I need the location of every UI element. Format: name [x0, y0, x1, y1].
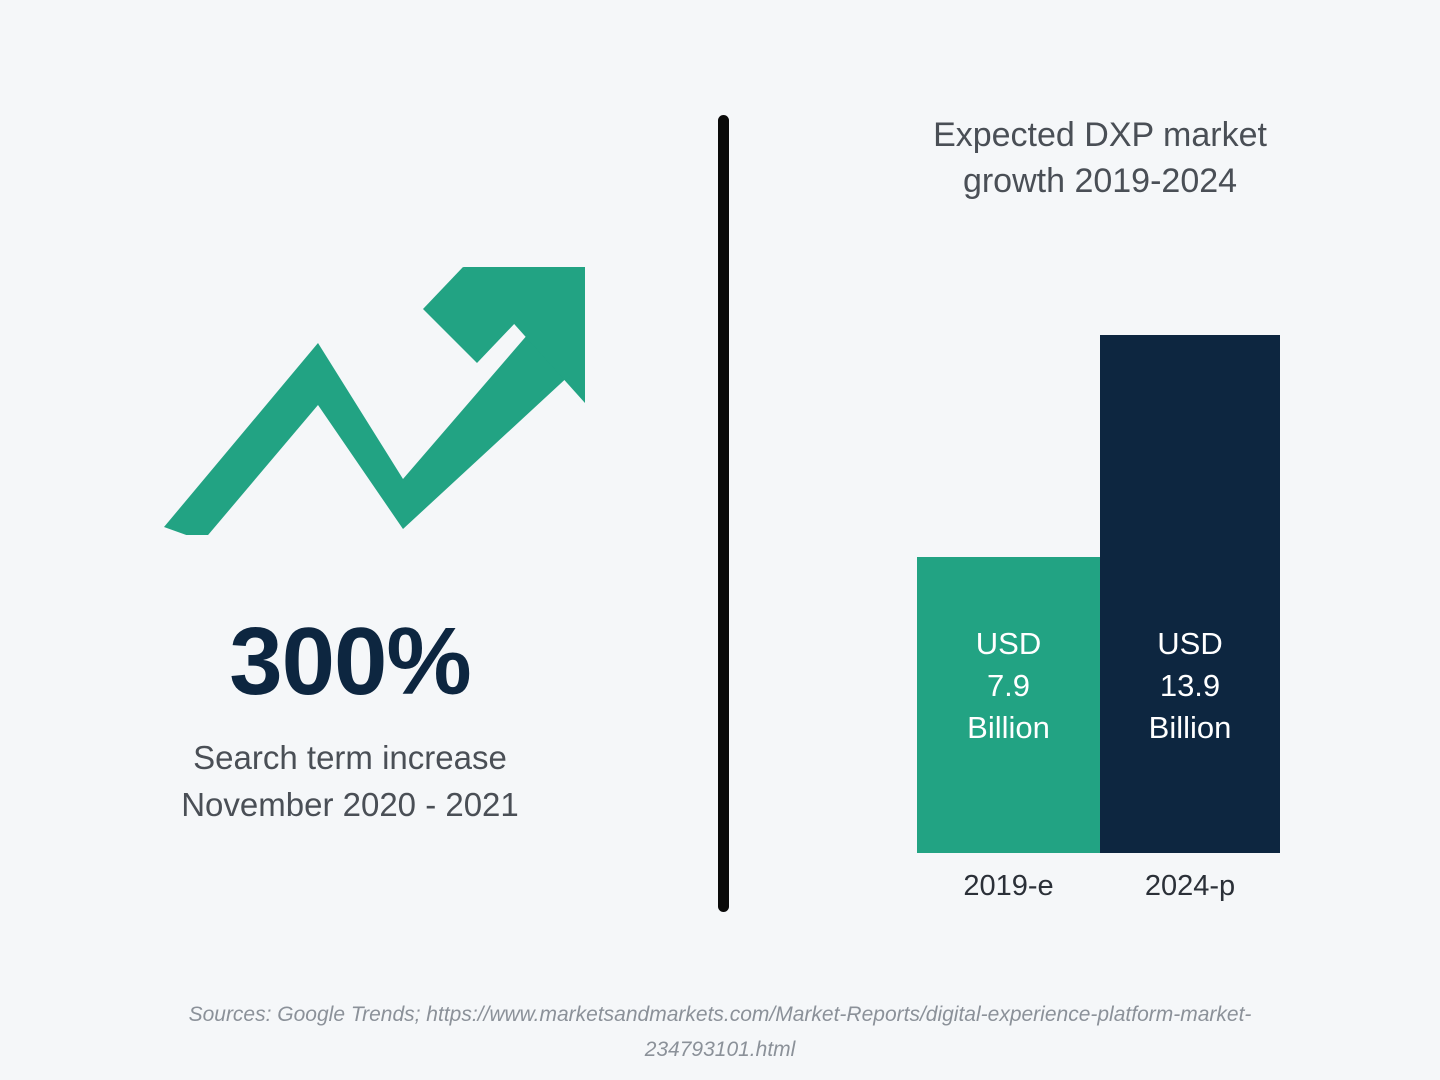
chart-title-line-2: growth 2019-2024: [760, 159, 1440, 205]
bar-chart: USD 7.9 Billion USD 13.9 Billion 2019-e …: [760, 320, 1440, 930]
dxp-market-chart-panel: Expected DXP market growth 2019-2024 USD…: [760, 0, 1440, 960]
stat-value: 300%: [0, 612, 700, 713]
bar-value-amount-2019: 7.9: [967, 665, 1050, 707]
bar-value-currency-2019: USD: [967, 623, 1050, 665]
bar-value-currency-2024: USD: [1149, 623, 1232, 665]
bar-value-label-2019: USD 7.9 Billion: [967, 623, 1050, 749]
search-trend-panel: 300% Search term increase November 2020 …: [0, 0, 700, 960]
x-axis-label-2024: 2024-p: [1100, 870, 1280, 903]
stat-caption-line-2: November 2020 - 2021: [0, 782, 700, 829]
bar-value-amount-2024: 13.9: [1149, 665, 1232, 707]
infographic-canvas: 300% Search term increase November 2020 …: [0, 0, 1440, 1080]
bar-2019-e: USD 7.9 Billion: [917, 557, 1100, 853]
bar-value-label-2024: USD 13.9 Billion: [1149, 623, 1232, 749]
stat-block: 300% Search term increase November 2020 …: [0, 612, 700, 829]
x-axis-labels: 2019-e 2024-p: [917, 870, 1280, 920]
stat-caption-line-1: Search term increase: [0, 735, 700, 782]
stat-caption: Search term increase November 2020 - 202…: [0, 735, 700, 829]
x-axis-label-2019: 2019-e: [917, 870, 1100, 903]
chart-title: Expected DXP market growth 2019-2024: [760, 113, 1440, 205]
vertical-divider: [718, 115, 729, 912]
sources-footnote: Sources: Google Trends; https://www.mark…: [120, 998, 1320, 1067]
bar-2024-p: USD 13.9 Billion: [1100, 335, 1280, 853]
chart-title-line-1: Expected DXP market: [760, 113, 1440, 159]
upward-trend-arrow-icon: [155, 255, 595, 535]
bar-value-unit-2019: Billion: [967, 707, 1050, 749]
bar-group: USD 7.9 Billion USD 13.9 Billion: [917, 320, 1280, 853]
bar-value-unit-2024: Billion: [1149, 707, 1232, 749]
